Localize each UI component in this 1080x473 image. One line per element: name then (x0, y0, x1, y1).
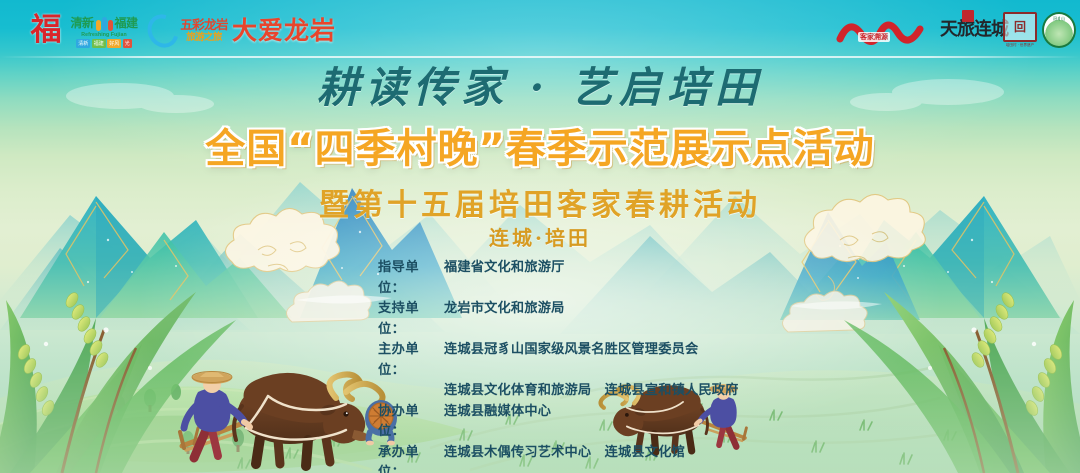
longyan-swoosh-icon (142, 9, 184, 53)
fujian-blocks: 清新 福建 好风 光 (76, 39, 132, 48)
gate-caption: 培田村 · 世界遮产 (1006, 43, 1034, 48)
longyan-text: 五彩龙岩 旅游之旅 (180, 19, 228, 42)
liancheng-text: 天旅连城 (940, 21, 1008, 39)
red-wave-logo: 客家溯源 (836, 12, 924, 48)
credit-label: 主办单位： (378, 340, 444, 381)
main-title: 全国“四季村晚”春季示范展示点活动 (0, 116, 1080, 174)
credit-label: 协办单位： (378, 402, 444, 443)
fujian-logo-row: 清新 福建 (70, 14, 137, 31)
green-seal-icon: 冠豸山 (1042, 12, 1076, 48)
credit-value: 连城县文化体育和旅游局 连城县宣和镇人民政府 (444, 381, 739, 402)
credit-label: 承办单位： (378, 443, 444, 473)
fujian-en-text: Refreshing Fujian (81, 32, 127, 38)
calligraphy-title: 耕读传家 · 艺启培田 (0, 54, 1080, 115)
fujian-block-4: 光 (123, 39, 132, 48)
fujian-cn-text2: 福建 (115, 14, 138, 31)
longyan-line1: 五彩龙岩 (180, 19, 228, 32)
credit-value: 龙岩市文化和旅游局 (444, 299, 565, 340)
gate-emblem-logo: 回 培田村 · 世界遮产 (1000, 12, 1040, 48)
credit-value: 连城县融媒体中心 (444, 402, 551, 443)
great-love-longyan-logo: 大爱龙岩 (232, 12, 336, 48)
gate-glyph: 回 (1014, 21, 1026, 33)
credit-row: 支持单位： 龙岩市文化和旅游局 (378, 299, 739, 340)
liancheng-seal-icon (962, 10, 974, 22)
credit-row: 协办单位： 连城县融媒体中心 (378, 402, 739, 443)
poster-canvas: 福 清新 福建 Refreshing Fujian 清新 福建 好风 光 (0, 0, 1080, 473)
great-love-text: 大爱龙岩 (232, 18, 336, 43)
fu-blessing-logo: 福 (18, 10, 74, 50)
fu-glyph: 福 (31, 15, 62, 46)
credit-row: 主办单位： 连城县冠豸山国家级风景名胜区管理委员会 (378, 340, 739, 381)
refreshing-fujian-logo: 清新 福建 Refreshing Fujian 清新 福建 好风 光 (68, 10, 140, 52)
credit-value: 连城县冠豸山国家级风景名胜区管理委员会 (444, 340, 698, 381)
credit-row: 承办单位： 连城县木偶传习艺术中心 连城县文化馆 (378, 443, 739, 473)
green-seal-caption: 冠豸山 (1053, 16, 1065, 22)
credit-row: 指导单位： 福建省文化和旅游厅 (378, 258, 739, 299)
longyan-line2: 旅游之旅 (186, 33, 228, 43)
credit-label: 指导单位： (378, 258, 444, 299)
red-wave-caption: 客家溯源 (858, 32, 890, 42)
gate-icon: 回 (1003, 12, 1037, 42)
credits-block: 指导单位： 福建省文化和旅游厅 支持单位： 龙岩市文化和旅游局 主办单位： 连城… (378, 258, 739, 473)
credit-label: 支持单位： (378, 299, 444, 340)
green-circle-seal-logo: 冠豸山 (1042, 13, 1076, 47)
credit-value: 连城县木偶传习艺术中心 连城县文化馆 (444, 443, 685, 473)
place-label: 连城·培田 (0, 222, 1080, 251)
fujian-block-3: 好风 (107, 39, 121, 48)
sponsor-logo-band: 福 清新 福建 Refreshing Fujian 清新 福建 好风 光 (0, 0, 1080, 58)
fujian-cn-text: 清新 (70, 14, 93, 31)
credit-row-continued: 连城县文化体育和旅游局 连城县宣和镇人民政府 (378, 381, 739, 402)
credit-value: 福建省文化和旅游厅 (444, 258, 565, 299)
fujian-block-2: 福建 (92, 39, 106, 48)
fujian-color-mark (96, 17, 113, 31)
colorful-longyan-logo: 五彩龙岩 旅游之旅 (146, 10, 230, 52)
subtitle: 暨第十五届培田客家春耕活动 (0, 180, 1080, 224)
fujian-block-1: 清新 (76, 39, 90, 48)
